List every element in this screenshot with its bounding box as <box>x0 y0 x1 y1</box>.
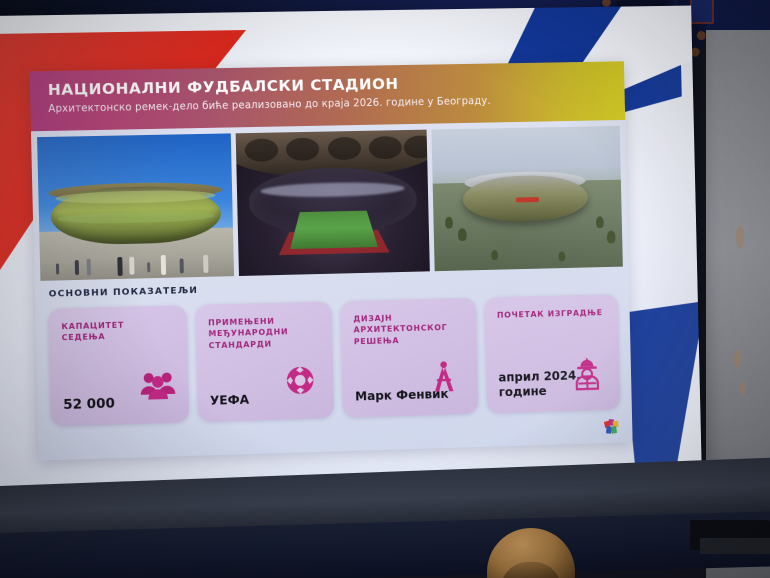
kpi-card-standards: ПРИМЕЊЕНИ МЕЂУНАРОДНИ СТАНДАРДИ УЕФА <box>195 301 334 422</box>
kpi-heading-line: ПОЧЕТАК ИЗГРАДЊЕ <box>497 307 607 321</box>
scene-photo: НАЦИОНАЛНИ ФУДБАЛСКИ СТАДИОН Архитектонс… <box>0 0 770 578</box>
soccer-ball-icon <box>283 363 323 404</box>
kpi-card-heading: ПРИМЕЊЕНИ МЕЂУНАРОДНИ СТАНДАРДИ <box>208 315 321 352</box>
kpi-value-line: године <box>499 383 581 400</box>
projection-screen: НАЦИОНАЛНИ ФУДБАЛСКИ СТАДИОН Архитектонс… <box>0 6 702 498</box>
slide-header: НАЦИОНАЛНИ ФУДБАЛСКИ СТАДИОН Архитектонс… <box>30 61 626 131</box>
equipment-base <box>700 538 770 554</box>
construction-worker-icon <box>570 355 609 395</box>
compass-divider-icon <box>428 359 468 399</box>
organization-logo <box>602 418 621 436</box>
kpi-card-heading: ДИЗАЈН АРХИТЕКТОНСКОГ РЕШЕЊА <box>353 311 465 347</box>
kpi-card-design: ДИЗАЈН АРХИТЕКТОНСКОГ РЕШЕЊА Марк Фенвик <box>340 298 478 418</box>
decor-lamp-icon <box>690 0 714 24</box>
kpi-card-construction-start: ПОЧЕТАК ИЗГРАДЊЕ април 2024. године <box>484 294 620 413</box>
kpi-heading-line: РЕШЕЊА <box>354 333 465 347</box>
kpi-card-value: 52 000 <box>63 396 115 412</box>
photo-stadium-aerial <box>431 126 622 271</box>
photo-stadium-interior <box>236 130 430 276</box>
kpi-value-line: април 2024. <box>498 368 580 385</box>
kpi-card-heading: КАПАЦИТЕТ СЕДЕЊА <box>61 318 175 343</box>
kpi-card-row: КАПАЦИТЕТ СЕДЕЊА 52 000 <box>35 285 632 427</box>
people-group-icon <box>137 367 177 408</box>
kpi-heading-line: СЕДЕЊА <box>62 330 176 344</box>
kpi-card-value: УЕФА <box>210 392 249 408</box>
kpi-heading-line: СТАНДАРДИ <box>209 337 321 351</box>
photo-stadium-exterior <box>37 133 234 280</box>
photo-strip <box>31 120 629 281</box>
kpi-card-capacity: КАПАЦИТЕТ СЕДЕЊА 52 000 <box>48 305 189 426</box>
kpi-card-value: април 2024. године <box>498 368 581 399</box>
presentation-slide: НАЦИОНАЛНИ ФУДБАЛСКИ СТАДИОН Архитектонс… <box>30 61 633 460</box>
kpi-card-heading: ПОЧЕТАК ИЗГРАДЊЕ <box>497 307 607 321</box>
